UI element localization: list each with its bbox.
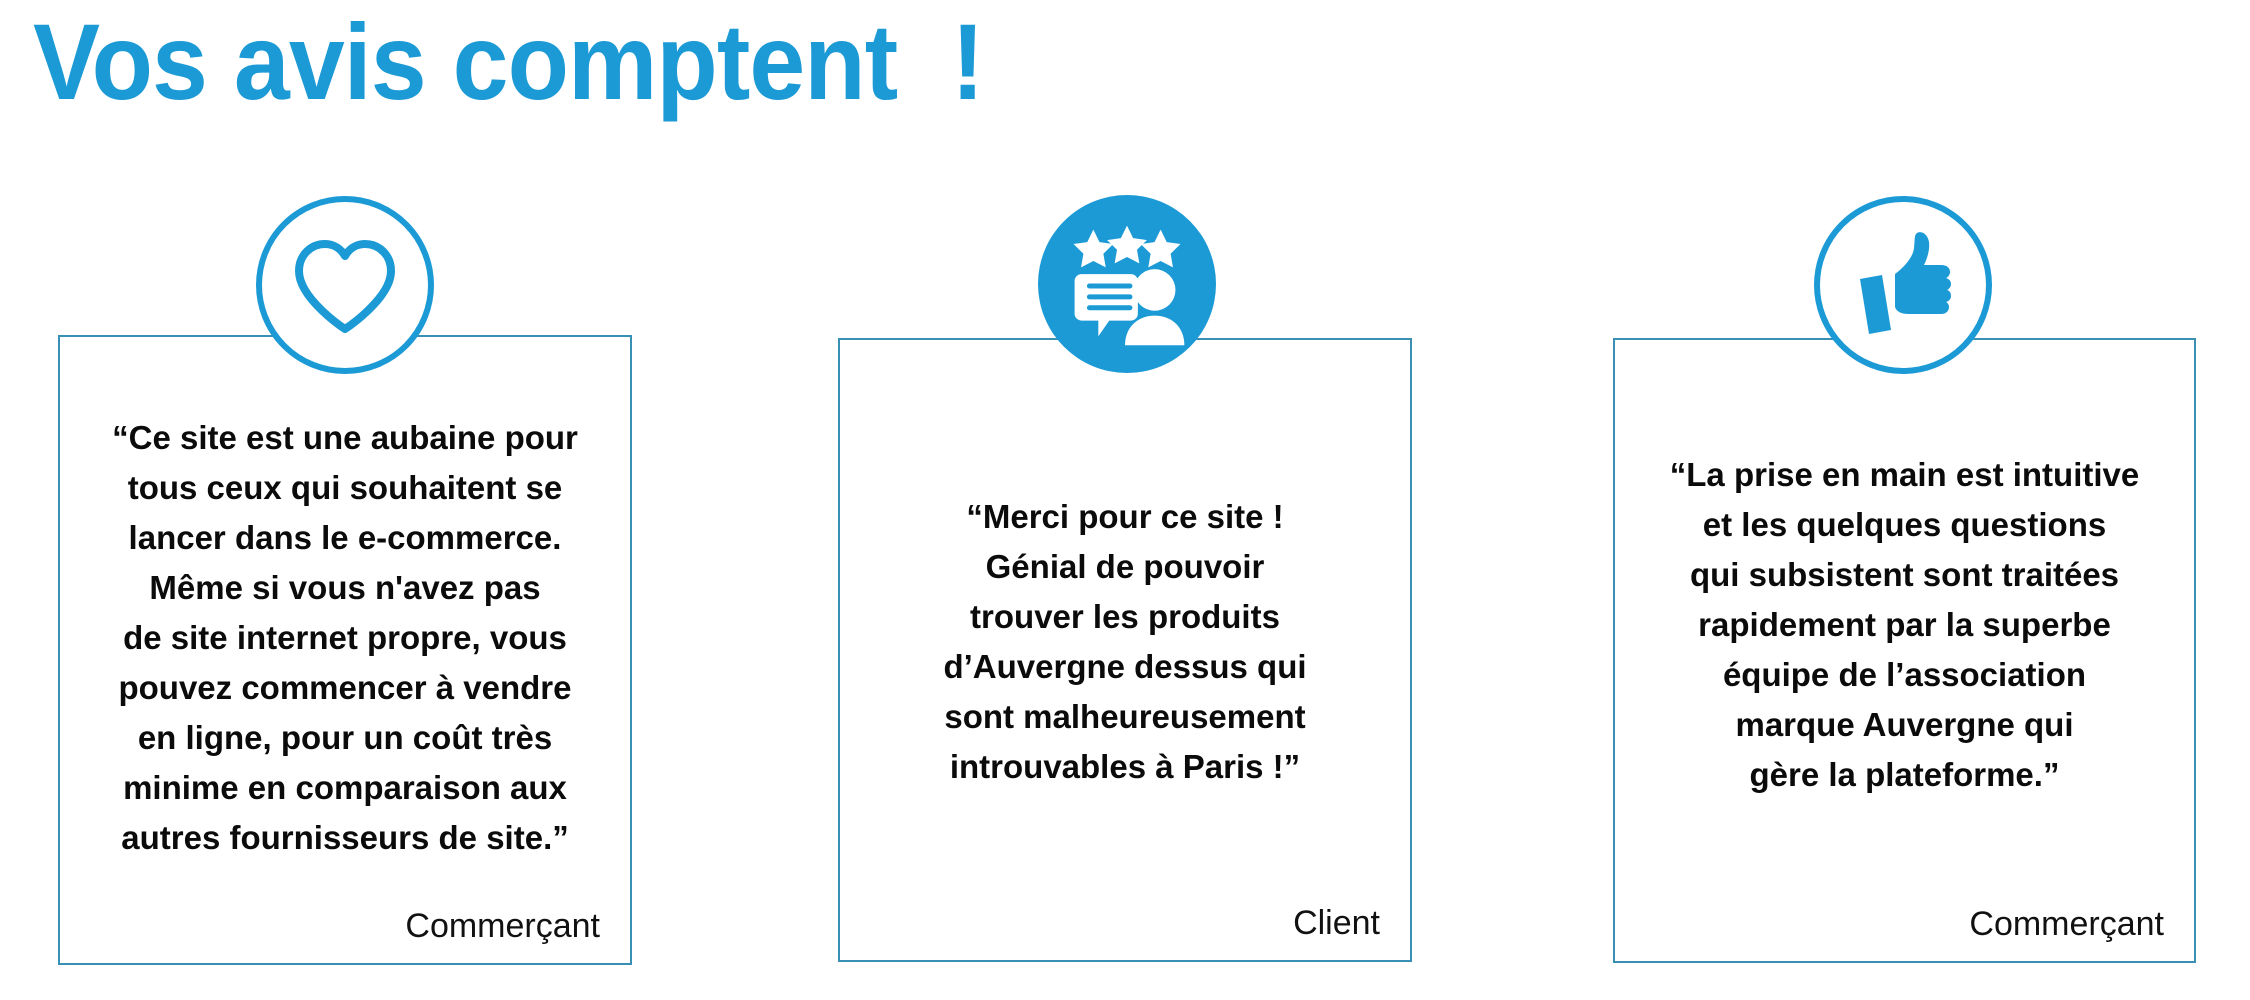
testimonial-author: Client [1293,902,1380,944]
review-stars-person-icon [1038,195,1216,373]
heart-outline-icon [255,195,435,375]
testimonial-quote: “Ce site est une aubaine pour tous ceux … [60,413,630,863]
testimonial-quote: “La prise en main est intuitive et les q… [1615,450,2194,800]
testimonial-author: Commerçant [1969,903,2164,945]
testimonial-quote: “Merci pour ce site ! Génial de pouvoir … [840,492,1410,792]
testimonials-slide: Vos avis comptent ! “Ce site est une aub… [0,0,2250,1000]
testimonial-author: Commerçant [405,905,600,947]
testimonial-card-1: “Ce site est une aubaine pour tous ceux … [58,335,632,965]
thumbs-up-icon [1813,195,1993,375]
testimonial-card-2: “Merci pour ce site ! Génial de pouvoir … [838,338,1412,962]
testimonial-card-3: “La prise en main est intuitive et les q… [1613,338,2196,963]
page-title: Vos avis comptent ! [33,4,984,120]
